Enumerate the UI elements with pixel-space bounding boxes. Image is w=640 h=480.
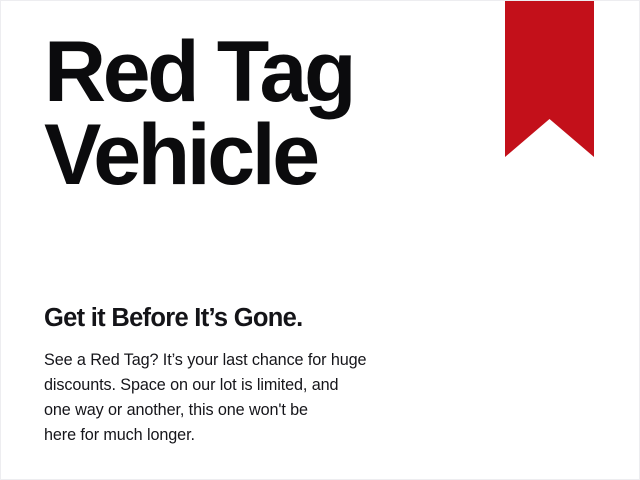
subheadline: Get it Before It’s Gone.	[44, 304, 303, 333]
red-tag-promo-card: Red Tag Vehicle Get it Before It’s Gone.…	[0, 0, 640, 480]
body-paragraph: See a Red Tag? It’s your last chance for…	[44, 348, 404, 448]
page-title: Red Tag Vehicle	[44, 31, 474, 196]
red-ribbon-tag-icon	[505, 1, 594, 157]
